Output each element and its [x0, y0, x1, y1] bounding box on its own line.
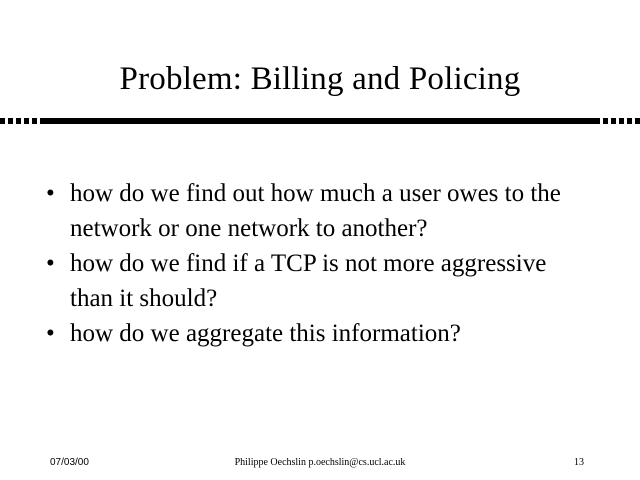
- slide-body: • how do we find out how much a user owe…: [46, 176, 586, 351]
- list-item: • how do we find out how much a user owe…: [46, 176, 586, 246]
- divider-solid-bar: [40, 118, 600, 124]
- bullet-item-text: how do we find if a TCP is not more aggr…: [70, 246, 586, 316]
- bullet-item-text: how do we find out how much a user owes …: [70, 176, 586, 246]
- slide-title: Problem: Billing and Policing: [0, 60, 640, 98]
- divider-dashes-left: [0, 118, 40, 124]
- list-item: • how do we aggregate this information?: [46, 316, 586, 351]
- bullet-point-icon: •: [46, 316, 70, 351]
- slide-footer: 07/03/00 Philippe Oechslin p.oechslin@cs…: [0, 455, 640, 471]
- slide-canvas: Problem: Billing and Policing • how do w…: [0, 0, 640, 480]
- bullet-point-icon: •: [46, 176, 70, 211]
- footer-author-email: Philippe Oechslin p.oechslin@cs.ucl.ac.u…: [0, 455, 640, 471]
- list-item: • how do we find if a TCP is not more ag…: [46, 246, 586, 316]
- divider-dashes-right: [600, 118, 640, 124]
- bullet-item-text: how do we aggregate this information?: [70, 316, 586, 351]
- footer-page-number: 13: [574, 455, 584, 471]
- title-divider-rule: [0, 117, 640, 124]
- bullet-point-icon: •: [46, 246, 70, 281]
